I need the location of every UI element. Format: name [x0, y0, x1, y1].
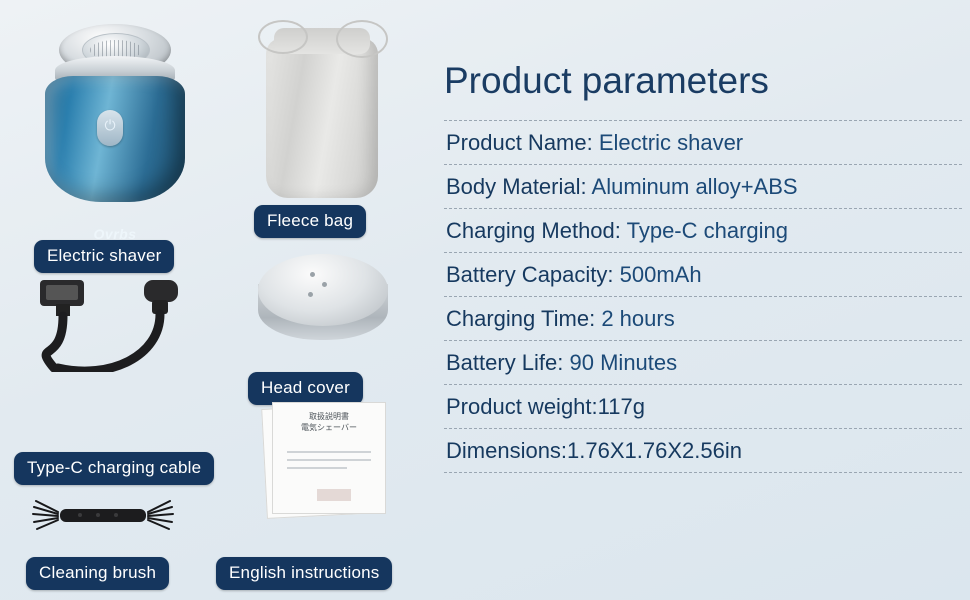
parameter-value: Electric shaver: [599, 130, 743, 155]
label-cleaning-brush: Cleaning brush: [26, 557, 169, 590]
label-type-c-cable: Type-C charging cable: [14, 452, 214, 485]
label-english-instructions: English instructions: [216, 557, 392, 590]
charging-cable-image: [14, 272, 234, 372]
cable-drawing: [14, 272, 234, 372]
parameter-row: Battery Life: 90 Minutes: [444, 340, 962, 384]
parameter-row: Product Name: Electric shaver: [444, 120, 962, 164]
label-electric-shaver: Electric shaver: [34, 240, 174, 273]
parameter-row: Product weight:117g: [444, 384, 962, 428]
parameter-value: Aluminum alloy+ABS: [592, 174, 798, 199]
parameter-value: 500mAh: [620, 262, 702, 287]
cleaning-brush-image: [20, 495, 200, 545]
product-infographic: Ovrbs Electric shaver Type-C charging ca…: [0, 0, 970, 600]
parameter-row: Dimensions:1.76X1.76X2.56in: [444, 428, 962, 473]
product-parameters-panel: Product parameters Product Name: Electri…: [436, 0, 970, 600]
bag-drawstring-left: [258, 20, 308, 54]
label-fleece-bag: Fleece bag: [254, 205, 366, 238]
parameter-row: Charging Method: Type-C charging: [444, 208, 962, 252]
bag-drawstring-right: [336, 20, 388, 58]
manual-line-2: [287, 459, 371, 461]
head-cover-image: [250, 248, 400, 358]
power-button-icon: [97, 110, 123, 146]
parameter-value: 90 Minutes: [570, 350, 678, 375]
manual-page-front: 取扱説明書 電気シェーバー: [272, 402, 386, 514]
fleece-bag-image: [252, 12, 392, 202]
parameter-value: 2 hours: [601, 306, 674, 331]
electric-shaver-image: Ovrbs: [35, 14, 195, 214]
english-instructions-image: 取扱説明書 電気シェーバー: [258, 400, 398, 520]
parameter-row: Charging Time: 2 hours: [444, 296, 962, 340]
parameter-row: Battery Capacity: 500mAh: [444, 252, 962, 296]
parameter-key: Dimensions:1.76X1.76X2.56in: [446, 438, 742, 463]
manual-line-3: [287, 467, 347, 469]
parameter-key: Charging Time:: [446, 306, 595, 331]
cover-dot-1: [310, 272, 315, 277]
parameter-row: Body Material: Aluminum alloy+ABS: [444, 164, 962, 208]
cover-lid: [258, 254, 388, 326]
manual-line-1: [287, 451, 371, 453]
parameter-key: Product Name:: [446, 130, 593, 155]
cover-dot-3: [308, 292, 313, 297]
cover-dot-2: [322, 282, 327, 287]
manual-cover-title: 取扱説明書 電気シェーバー: [273, 411, 385, 433]
manual-stamp: [317, 489, 351, 501]
parameter-key: Charging Method:: [446, 218, 621, 243]
brush-drawing: [20, 495, 200, 545]
parameter-list: Product Name: Electric shaver Body Mater…: [436, 120, 970, 473]
parameter-key: Battery Life:: [446, 350, 563, 375]
page-title: Product parameters: [436, 0, 970, 120]
parameter-key: Battery Capacity:: [446, 262, 614, 287]
parameter-value: Type-C charging: [627, 218, 788, 243]
parameter-key: Body Material:: [446, 174, 587, 199]
bag-body: [266, 38, 378, 198]
parameter-key: Product weight:117g: [446, 394, 645, 419]
